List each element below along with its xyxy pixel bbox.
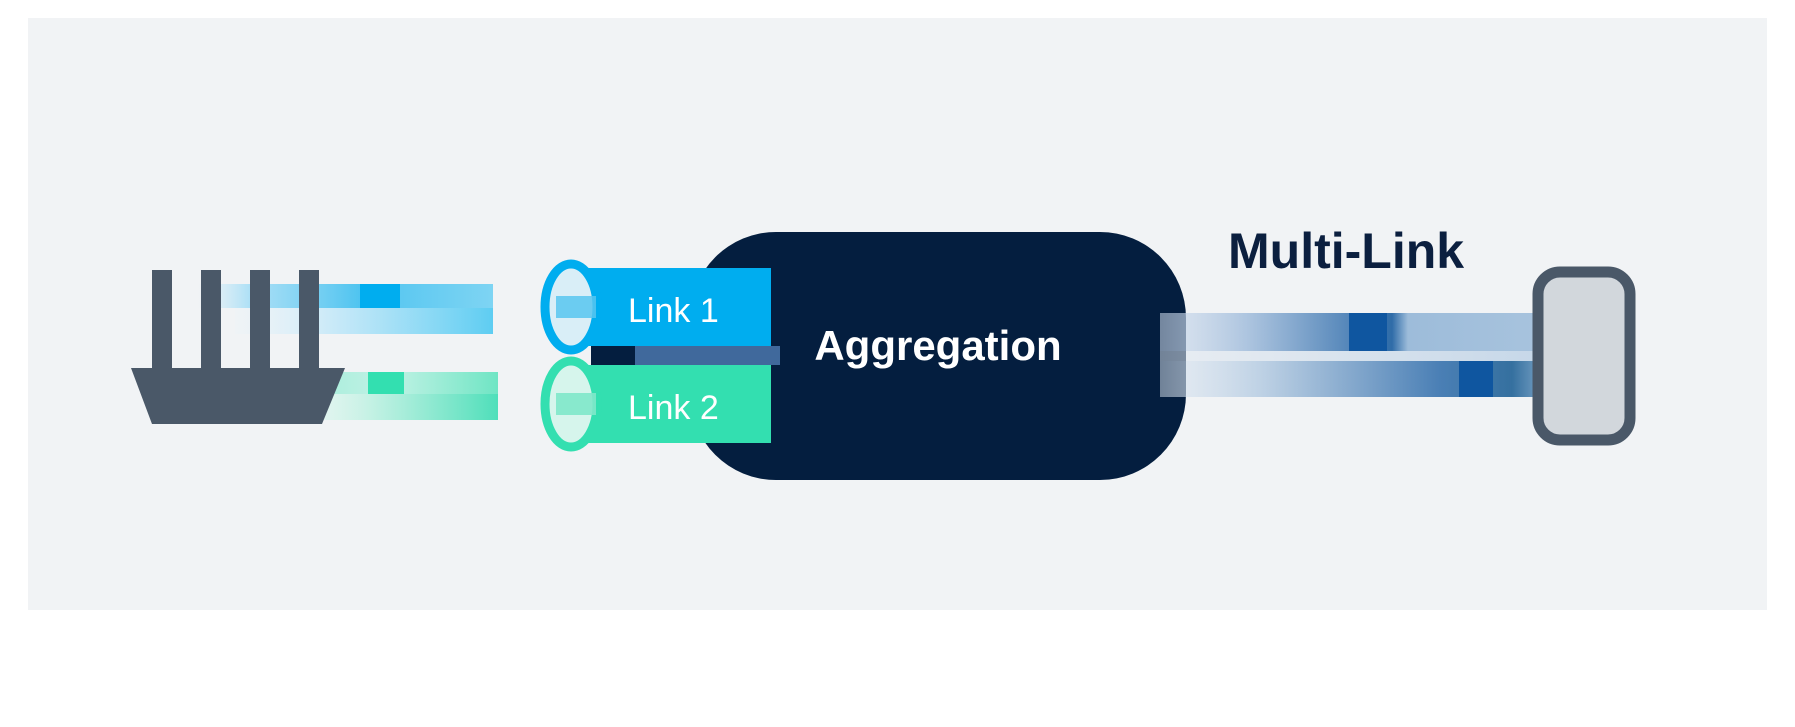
link-2-label: Link 2 [628,389,719,427]
packet-block-left-upper [360,284,400,308]
packet-block-right-upper [1349,313,1387,351]
right-lower-stream [1160,361,1560,397]
multi-link-title: Multi-Link [1228,223,1464,279]
multi-link-aggregation-diagram: Link 1 Link 2 Aggregation Multi-Link [0,0,1795,727]
router-base [131,368,345,424]
right-upper-stream [1160,313,1560,361]
mobile-device [1538,272,1630,440]
device-body [1538,272,1630,440]
packet-block-right-lower [1459,361,1493,397]
left-upper-stream [198,284,493,334]
tube-separator [591,346,780,365]
link-1-label: Link 1 [628,292,719,330]
diagram-stage: Link 1 Link 2 Aggregation Multi-Link [0,0,1795,727]
packet-block-left-lower [368,372,404,394]
aggregation-label: Aggregation [814,322,1061,369]
